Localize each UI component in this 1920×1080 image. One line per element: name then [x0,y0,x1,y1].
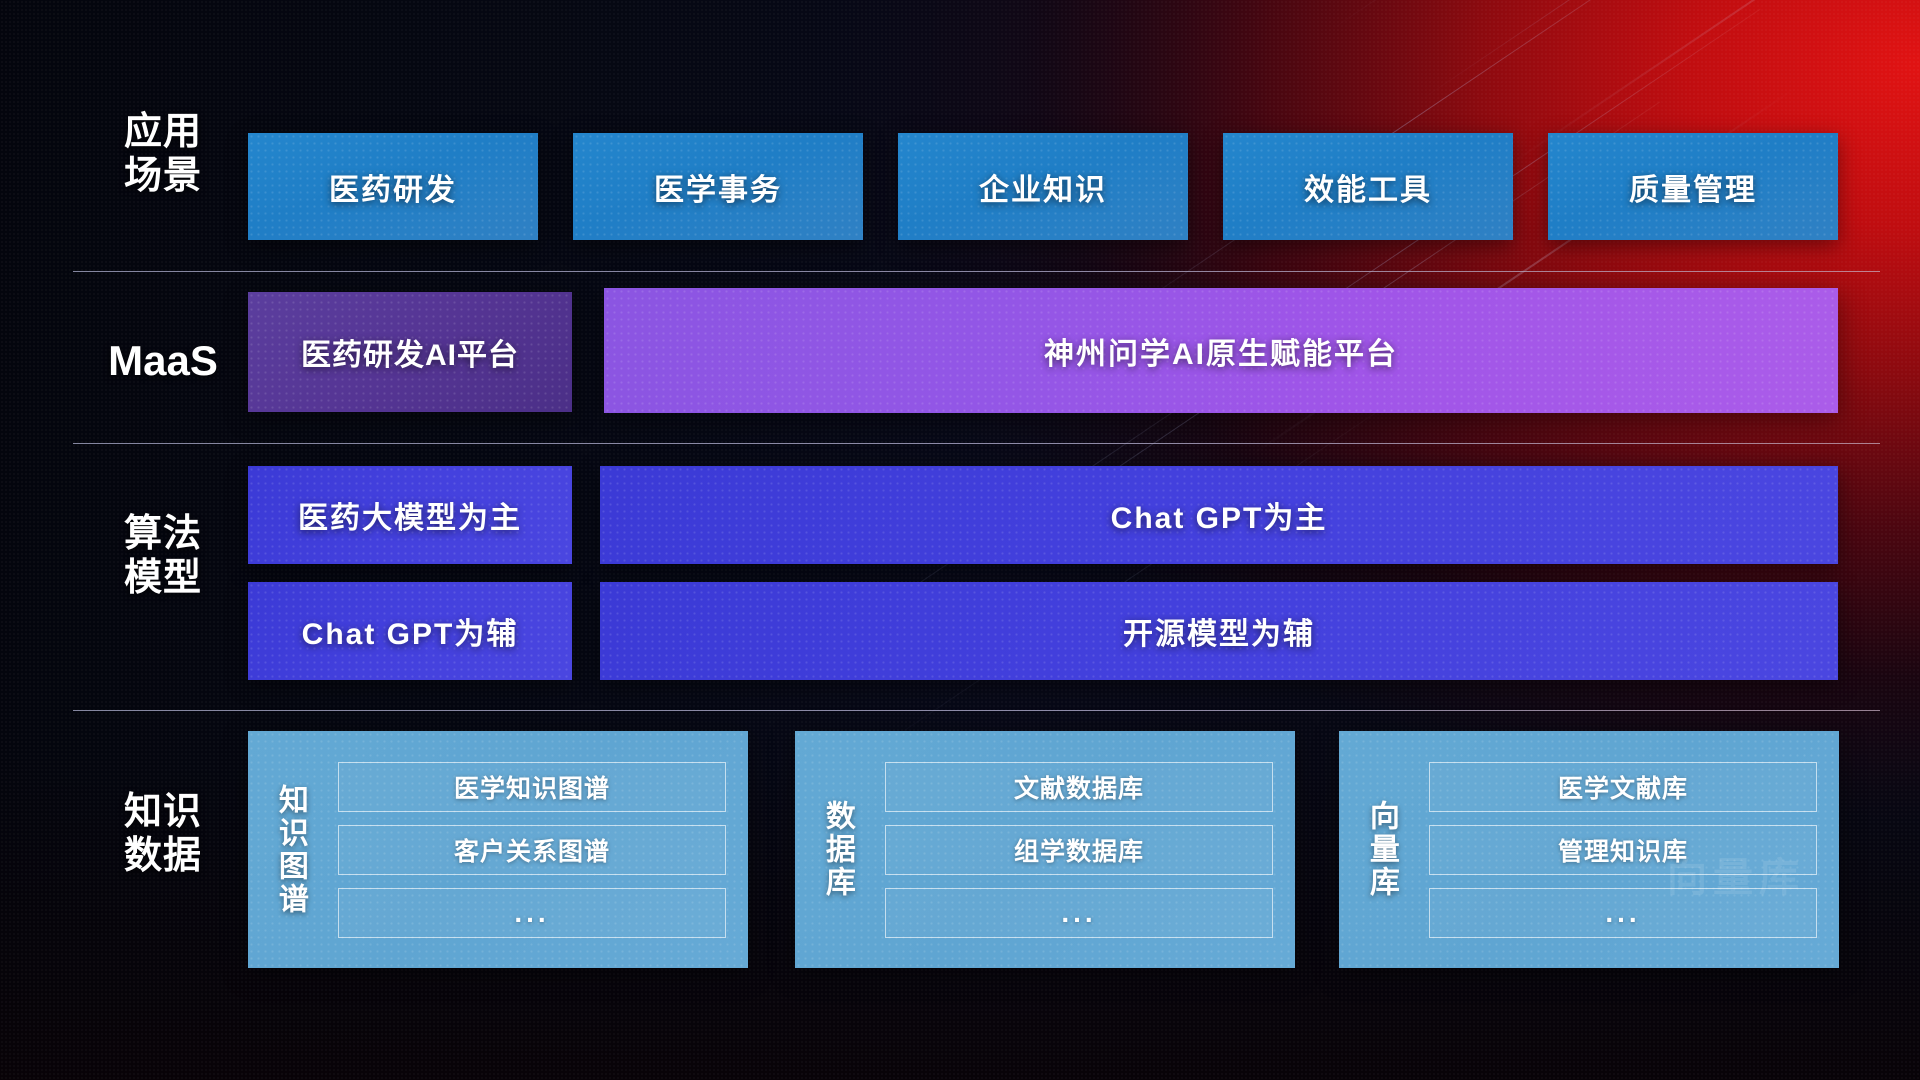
knowledge-panel-database[interactable]: 数据库 文献数据库 组学数据库 ... [795,731,1295,968]
app-box-efficiency-tools[interactable]: 效能工具 [1223,133,1513,240]
algorithm-box-medicine-large-model-primary[interactable]: 医药大模型为主 [248,466,572,564]
divider-after-maas [73,443,1880,444]
knowledge-item-literature-database[interactable]: 文献数据库 [885,762,1273,812]
divider-after-application-scenario [73,271,1880,272]
row-label-application-scenario: 应用 场景 [74,110,252,198]
algorithm-box-chatgpt-primary[interactable]: Chat GPT为主 [600,466,1838,564]
knowledge-item-medical-literature-store[interactable]: 医学文献库 [1429,762,1817,812]
knowledge-item-more-knowledge-graph[interactable]: ... [338,888,726,938]
maas-box-medicine-rd-ai-platform[interactable]: 医药研发AI平台 [248,292,572,412]
knowledge-item-management-knowledge-store[interactable]: 管理知识库 [1429,825,1817,875]
knowledge-item-more-vector-store[interactable]: ... [1429,888,1817,938]
divider-after-algorithm-model [73,710,1880,711]
app-box-medicine-rd[interactable]: 医药研发 [248,133,538,240]
algorithm-box-chatgpt-secondary[interactable]: Chat GPT为辅 [248,582,572,680]
app-box-medical-affairs[interactable]: 医学事务 [573,133,863,240]
architecture-diagram: 应用 场景 医药研发 医学事务 企业知识 效能工具 质量管理 MaaS 医药研发… [0,0,1920,1080]
knowledge-items-database: 文献数据库 组学数据库 ... [879,731,1295,968]
app-box-quality-management[interactable]: 质量管理 [1548,133,1838,240]
knowledge-panel-vector-store[interactable]: 向量库 向量库 医学文献库 管理知识库 ... [1339,731,1839,968]
row-label-knowledge-data: 知识 数据 [74,790,252,878]
algorithm-box-opensource-secondary[interactable]: 开源模型为辅 [600,582,1838,680]
knowledge-panel-knowledge-graph[interactable]: 知识图谱 医学知识图谱 客户关系图谱 ... [248,731,748,968]
knowledge-panel-title-knowledge-graph: 知识图谱 [248,731,332,968]
knowledge-items-vector-store: 医学文献库 管理知识库 ... [1423,731,1839,968]
knowledge-item-customer-relation-graph[interactable]: 客户关系图谱 [338,825,726,875]
knowledge-item-medical-knowledge-graph[interactable]: 医学知识图谱 [338,762,726,812]
row-label-algorithm-model: 算法 模型 [74,512,252,600]
maas-box-shenzhou-wenxue-platform[interactable]: 神州问学AI原生赋能平台 [604,288,1838,413]
knowledge-items-knowledge-graph: 医学知识图谱 客户关系图谱 ... [332,731,748,968]
knowledge-panel-title-database: 数据库 [795,731,879,968]
knowledge-item-omics-database[interactable]: 组学数据库 [885,825,1273,875]
app-box-enterprise-knowledge[interactable]: 企业知识 [898,133,1188,240]
knowledge-panel-title-vector-store: 向量库 [1339,731,1423,968]
knowledge-item-more-database[interactable]: ... [885,888,1273,938]
row-label-maas: MaaS [74,337,252,386]
